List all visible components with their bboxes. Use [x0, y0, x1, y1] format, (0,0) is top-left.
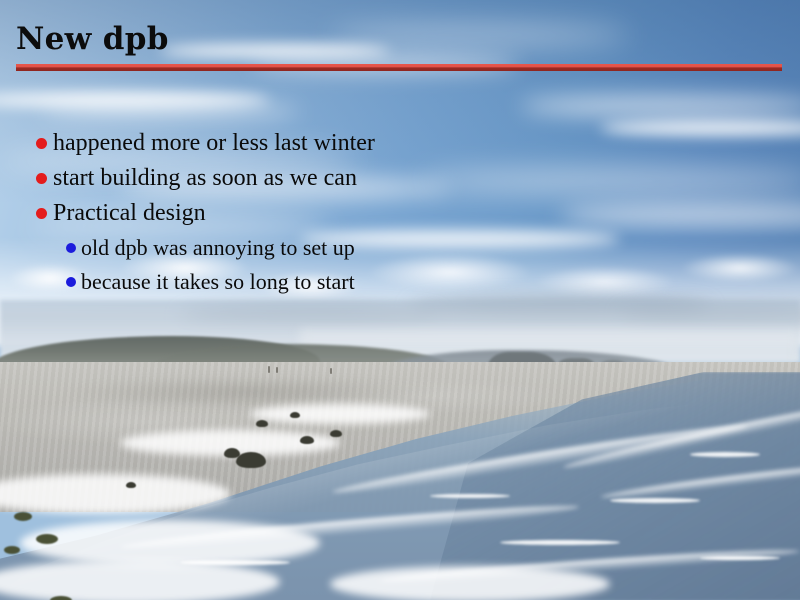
list-item: Practical design — [0, 198, 800, 233]
list-item-label: start building as soon as we can — [53, 163, 357, 194]
water-glint — [430, 494, 510, 498]
seaweed-clump — [36, 534, 58, 544]
red-disc-bullet-icon — [36, 208, 47, 219]
water-glint — [690, 452, 760, 457]
list-item: start building as soon as we can — [0, 163, 800, 198]
list-item-label: happened more or less last winter — [53, 128, 375, 159]
cloud-wisp — [330, 26, 630, 44]
shore-rock — [224, 448, 240, 458]
water-glint — [700, 556, 780, 560]
title-divider-rule — [16, 64, 782, 71]
shore-rock — [330, 430, 342, 437]
red-disc-bullet-icon — [36, 138, 47, 149]
list-item-label: Practical design — [53, 198, 206, 229]
slide: New dpb happened more or less last winte… — [0, 0, 800, 600]
seaweed-clump — [4, 546, 20, 554]
seaweed-clump — [50, 596, 72, 600]
blue-disc-bullet-icon — [66, 243, 76, 253]
page-title: New dpb — [16, 20, 169, 58]
shore-rock — [126, 482, 136, 488]
cloud-wisp — [520, 96, 800, 116]
water-glint — [500, 540, 620, 545]
bullet-list: happened more or less last winter start … — [0, 128, 800, 301]
list-item: happened more or less last winter — [0, 128, 800, 163]
distant-person — [276, 367, 278, 373]
sand-shadow — [0, 372, 520, 412]
shore-rock — [300, 436, 314, 444]
foam-patch — [0, 560, 280, 600]
seaweed-clump — [14, 512, 32, 521]
list-item: old dpb was annoying to set up — [0, 233, 800, 267]
foam-patch — [330, 566, 610, 600]
water-glint — [610, 498, 700, 503]
distant-person — [330, 368, 332, 374]
shore-rock — [256, 420, 268, 427]
cloud-wisp — [40, 104, 300, 118]
shore-rock — [290, 412, 300, 418]
blue-disc-bullet-icon — [66, 277, 76, 287]
red-disc-bullet-icon — [36, 173, 47, 184]
distant-person — [268, 366, 270, 373]
list-item-label: because it takes so long to start — [81, 267, 355, 297]
shore-rock — [236, 452, 266, 468]
foam-patch — [20, 520, 320, 566]
list-item-label: old dpb was annoying to set up — [81, 233, 355, 263]
foam-patch — [250, 404, 430, 424]
list-item: because it takes so long to start — [0, 267, 800, 301]
water-glint — [180, 560, 290, 565]
